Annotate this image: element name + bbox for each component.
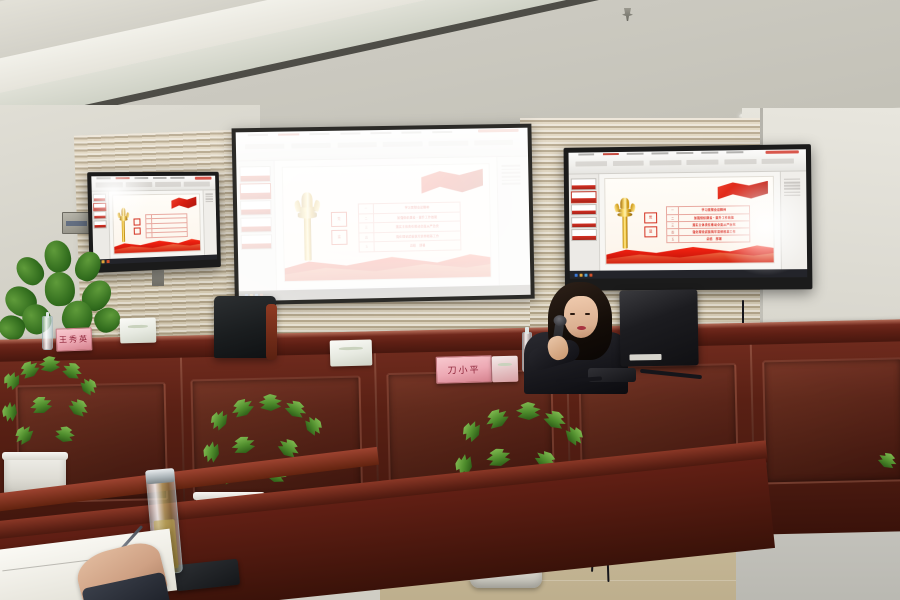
toolbar-group[interactable] <box>291 142 330 148</box>
tissue-box-left[interactable] <box>120 318 157 344</box>
monitor[interactable] <box>619 289 698 366</box>
ribbon-toolbar[interactable] <box>576 158 794 167</box>
slide-thumbnail[interactable] <box>240 200 272 216</box>
name-placard-right: 刀小平 <box>436 355 493 383</box>
slide-thumbnail[interactable] <box>93 203 106 211</box>
slide-canvas: 党 建 一 学习贯彻会议精神 二 加强组织建设・提升工作效能 三 <box>281 163 492 282</box>
slide-thumbnail[interactable] <box>241 234 273 250</box>
slide-thumbnail[interactable] <box>571 191 596 203</box>
pillar-disc <box>618 212 633 217</box>
slide-table: 一 学习贯彻会议精神 二 加强组织建设・提升工作效能 三 落实主体责任推动全面从… <box>666 206 750 243</box>
tab-file[interactable] <box>97 177 112 179</box>
toolbar-group[interactable] <box>687 159 719 165</box>
folder-icon[interactable] <box>101 260 104 263</box>
seal-stamp: 建 <box>331 230 347 245</box>
table-key: 四 <box>359 233 374 242</box>
huabiao-pillar-icon <box>119 208 128 243</box>
table-key: 三 <box>359 223 374 232</box>
format-pane[interactable] <box>203 190 218 260</box>
tab-transitions[interactable] <box>371 132 391 135</box>
conference-room-photo: 党 建 一 学习贯彻会议精神 二 加强组织建设・提升工作效能 三 <box>0 0 900 600</box>
seal-stamp <box>134 227 141 235</box>
toolbar-group[interactable] <box>612 160 644 166</box>
tab-home[interactable] <box>278 133 299 136</box>
tab-design[interactable] <box>340 132 361 135</box>
pillar-top <box>621 198 629 209</box>
account-badge[interactable] <box>478 129 519 133</box>
slide-thumbnail-panel[interactable] <box>236 160 277 301</box>
slide-table: 一 学习贯彻会议精神 二 加强组织建设・提升工作效能 三 落实主体责任推动全面从… <box>358 202 462 253</box>
speaker-face <box>564 296 598 338</box>
pane-row <box>502 179 521 181</box>
toolbar-group[interactable] <box>724 159 756 165</box>
toolbar-group[interactable] <box>429 140 468 146</box>
seal-stamp <box>134 218 141 226</box>
red-flag-icon <box>718 181 769 202</box>
tab-insert[interactable] <box>309 132 330 135</box>
display-left[interactable] <box>87 172 221 273</box>
table-value: 落实主体责任推动全面从严治党 <box>679 221 749 228</box>
table-value: 强化理论武装筑牢思想根基工作 <box>375 231 461 241</box>
toolbar-group[interactable] <box>474 139 513 145</box>
folder-icon[interactable] <box>579 273 582 276</box>
display-left-panel <box>91 176 217 265</box>
ribbon-tabs[interactable] <box>97 177 185 180</box>
red-flag-icon <box>171 197 197 211</box>
pillar-shaft <box>122 218 125 243</box>
table-key: 四 <box>667 229 679 235</box>
pane-row <box>785 194 800 196</box>
pane-row <box>502 183 521 185</box>
slide-stage <box>109 190 204 258</box>
huabiao-pillar-icon <box>297 192 317 260</box>
tab-animations[interactable] <box>401 131 421 134</box>
slide-stage: 党 建 一 学习贯彻会议精神 二 加强组织建设・提升工作效能 三 <box>275 157 499 289</box>
pane-row <box>502 165 521 167</box>
tab-insert[interactable] <box>134 177 148 179</box>
pillar-shaft <box>622 212 628 249</box>
display-right[interactable]: 党 建 一 学习贯彻会议精神 二 加强组织建设・提升工作效能 <box>564 144 813 291</box>
ribbon <box>91 176 215 192</box>
ppt-icon[interactable] <box>589 273 592 276</box>
pane-row <box>502 176 521 178</box>
monitor-label <box>630 354 661 361</box>
ribbon-tabs[interactable] <box>247 131 452 136</box>
table-value: 学习贯彻会议精神 <box>374 203 460 213</box>
pane-row <box>502 168 521 170</box>
seal-stamp: 党 <box>644 213 657 224</box>
table-key: 三 <box>667 222 679 228</box>
toolbar-group[interactable] <box>576 161 608 167</box>
red-flag-icon <box>421 169 483 197</box>
slide-thumbnail[interactable] <box>93 194 106 202</box>
table-key: 一 <box>359 204 374 213</box>
tumbler-cap <box>145 468 175 485</box>
toolbar-group[interactable] <box>383 141 422 147</box>
slide-thumbnail[interactable] <box>571 204 596 216</box>
tab-view[interactable] <box>432 131 452 134</box>
tab-home[interactable] <box>602 153 618 155</box>
pane-row <box>784 178 799 180</box>
tv-mount-left <box>152 270 164 286</box>
podium-panel <box>762 357 900 484</box>
table-value: 总结 部署 <box>679 235 749 242</box>
slide-thumbnail[interactable] <box>94 220 107 228</box>
tab-transitions[interactable] <box>677 152 694 154</box>
table-value <box>153 232 188 237</box>
toolbar-group[interactable] <box>184 181 209 187</box>
toolbar-group[interactable] <box>650 160 682 166</box>
pillar-wing <box>125 212 129 218</box>
tab-design[interactable] <box>153 177 167 179</box>
tab-home[interactable] <box>116 177 130 179</box>
table-key: 五 <box>667 236 679 242</box>
pane-row <box>502 172 521 174</box>
slide-thumbnail[interactable] <box>240 217 272 233</box>
ribbon <box>568 149 806 174</box>
slide-thumbnail[interactable] <box>571 217 596 229</box>
pillar-disc <box>119 218 127 221</box>
speaker-eye <box>585 313 590 315</box>
tissue-box-center[interactable] <box>330 339 373 366</box>
slide-thumbnail[interactable] <box>571 179 596 191</box>
tab-file[interactable] <box>578 154 594 156</box>
speaker-eye <box>570 313 575 315</box>
table-row: 五 总结 部署 <box>360 241 461 252</box>
tab-insert[interactable] <box>627 153 644 155</box>
windows-taskbar[interactable] <box>570 270 808 279</box>
pane-row <box>205 201 212 203</box>
table-value: 加强组织建设・提升工作效能 <box>679 214 749 221</box>
huabiao-pillar-icon <box>617 198 632 249</box>
display-right-panel: 党 建 一 学习贯彻会议精神 二 加强组织建设・提升工作效能 <box>568 149 807 279</box>
seal-stamp: 建 <box>644 226 657 237</box>
table-key: 二 <box>359 214 374 223</box>
pillar-top <box>301 192 312 207</box>
table-key: 二 <box>667 215 679 221</box>
slide-table <box>145 213 188 238</box>
slide-canvas: 党 建 一 学习贯彻会议精神 二 加强组织建设・提升工作效能 <box>605 176 776 265</box>
tab-animations[interactable] <box>702 152 719 154</box>
table-value: 学习贯彻会议精神 <box>679 207 749 214</box>
format-pane[interactable] <box>780 171 808 277</box>
table-value: 总结 部署 <box>375 241 461 251</box>
av-control-panel[interactable] <box>62 212 90 234</box>
pillar-top <box>121 208 126 216</box>
pane-row <box>784 185 799 187</box>
pillar-shaft <box>304 211 312 260</box>
powerpoint-window-left <box>91 176 217 265</box>
slide-thumbnail-panel[interactable] <box>569 174 601 279</box>
ribbon-toolbar[interactable] <box>95 181 209 188</box>
table-value: 落实主体责任推动全面从严治党 <box>374 222 460 232</box>
seal-stamp: 党 <box>331 212 347 227</box>
projection-screen: 党 建 一 学习贯彻会议精神 二 加强组织建设・提升工作效能 三 <box>232 124 535 306</box>
name-placard-left: 王秀英 <box>56 327 93 351</box>
table-row: 五 总结 部署 <box>667 235 749 242</box>
tab-file[interactable] <box>247 133 268 136</box>
table-key: 五 <box>360 242 375 251</box>
chair-armrest <box>266 304 277 360</box>
table-value: 加强组织建设・提升工作效能 <box>374 212 460 222</box>
account-badge[interactable] <box>195 176 212 179</box>
tissue-box-right[interactable] <box>492 356 519 383</box>
toolbar-group[interactable] <box>155 181 181 187</box>
table-key: 一 <box>667 207 679 213</box>
slide-thumbnail[interactable] <box>572 229 597 241</box>
format-pane[interactable] <box>496 156 530 295</box>
tab-view[interactable] <box>727 151 744 153</box>
slide-thumbnail[interactable] <box>240 183 272 199</box>
slide-canvas <box>112 193 202 254</box>
pane-row <box>784 188 799 190</box>
start-icon[interactable] <box>574 273 577 276</box>
pane-row <box>784 191 799 193</box>
powerpoint-window-projected: 党 建 一 学习贯彻会议精神 二 加强组织建设・提升工作效能 三 <box>236 128 531 302</box>
toolbar-group[interactable] <box>245 143 285 149</box>
table-row <box>146 232 187 237</box>
slide-stage: 党 建 一 学习贯彻会议精神 二 加强组织建设・提升工作效能 <box>599 171 780 269</box>
slide-thumbnail[interactable] <box>239 166 271 182</box>
powerpoint-window-right: 党 建 一 学习贯彻会议精神 二 加强组织建设・提升工作效能 <box>568 149 807 279</box>
tab-view[interactable] <box>171 177 185 179</box>
pillar-disc <box>298 212 317 218</box>
toolbar-group[interactable] <box>126 182 153 188</box>
table-value: 强化理论武装筑牢思想根基工作 <box>679 228 749 235</box>
ribbon-tabs[interactable] <box>578 151 744 156</box>
account-badge[interactable] <box>765 150 799 154</box>
toolbar-group[interactable] <box>95 182 123 188</box>
slide-thumbnail[interactable] <box>93 211 106 219</box>
water-bottle[interactable] <box>42 316 53 350</box>
tab-design[interactable] <box>652 153 669 155</box>
ppt-icon[interactable] <box>106 260 109 263</box>
speaker-lips <box>577 326 586 330</box>
toolbar-group[interactable] <box>762 158 794 164</box>
toolbar-group[interactable] <box>337 142 376 148</box>
browser-icon[interactable] <box>584 273 587 276</box>
ribbon-toolbar[interactable] <box>245 139 514 149</box>
pane-row <box>784 181 799 183</box>
